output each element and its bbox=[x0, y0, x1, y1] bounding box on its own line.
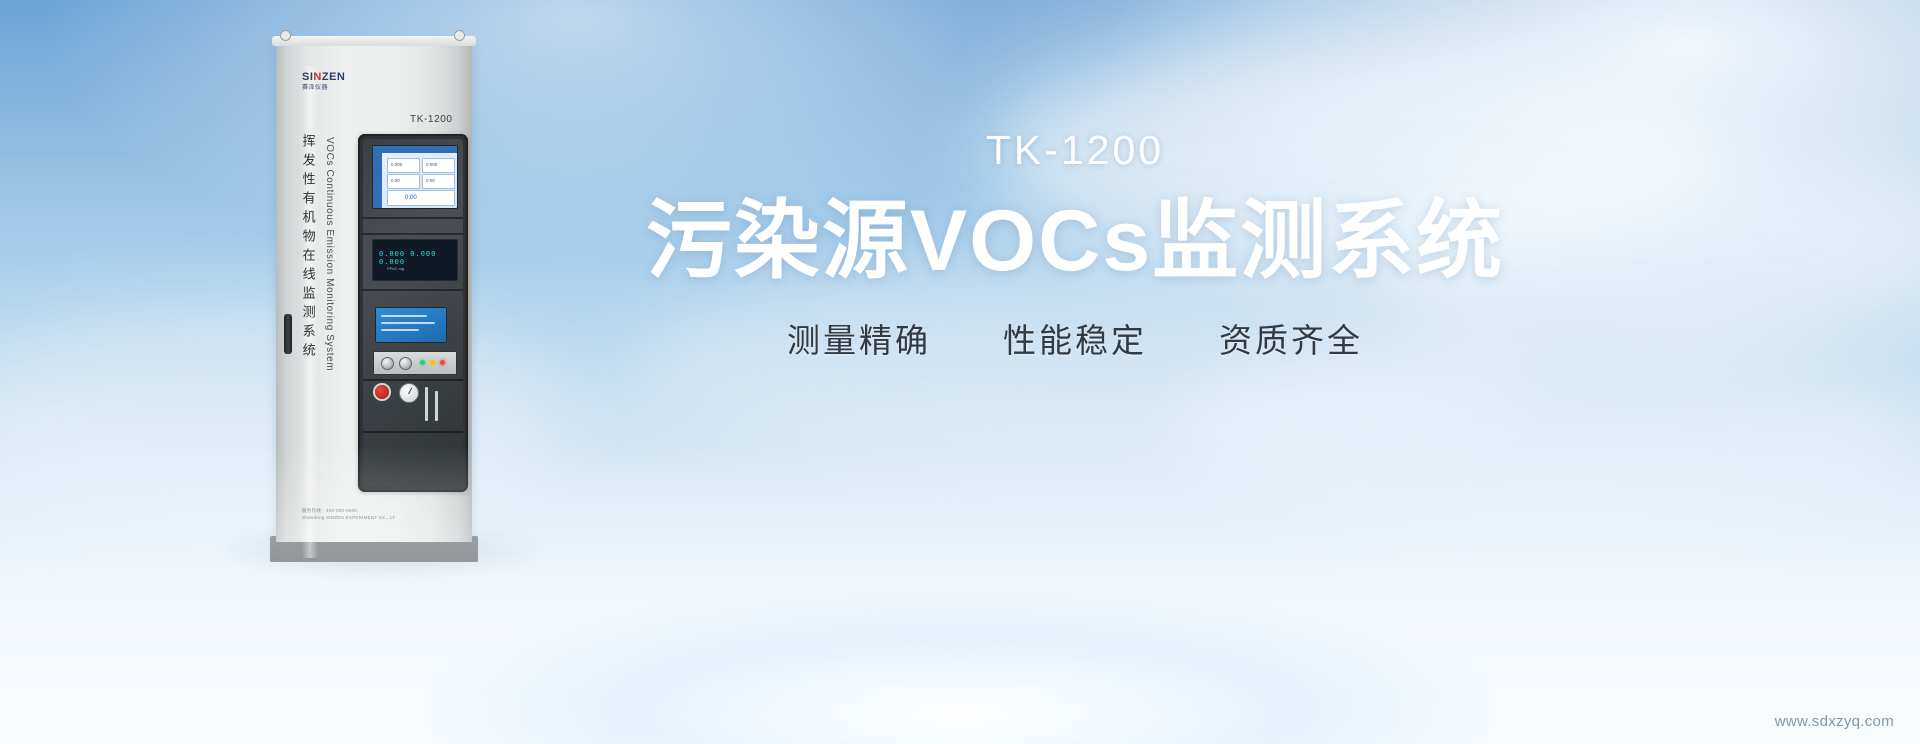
hmi-side-menu bbox=[373, 153, 382, 208]
cabinet-footnote-line2: Shandong SINZEN EXPERIMENT Inc., LT bbox=[302, 515, 452, 522]
feature-item-3: 资质齐全 bbox=[1219, 324, 1363, 357]
cabinet-footnote-line1: 服务热线：400-000-0000 bbox=[302, 508, 452, 515]
cabinet-door-handle[interactable] bbox=[284, 314, 292, 354]
headline-block: TK-1200 污染源VOCs监测系统 测量精确 性能稳定 资质齐全 bbox=[545, 130, 1605, 357]
emergency-stop-button[interactable] bbox=[375, 385, 389, 399]
brand-wordmark: SINZEN bbox=[302, 72, 358, 83]
feature-item-1: 测量精确 bbox=[787, 324, 931, 357]
status-led-red bbox=[440, 360, 445, 365]
site-watermark: www.sdxzyq.com bbox=[1775, 713, 1894, 730]
door-divider bbox=[363, 289, 463, 291]
wave-glow bbox=[430, 594, 1490, 744]
cabinet-door: 0.000 0.000 0.00 0.00 0.00 0.000 0.000 0… bbox=[358, 134, 468, 492]
rotary-knob bbox=[399, 357, 412, 370]
hmi-readout-main: 0.00 bbox=[405, 195, 417, 201]
gas-tube bbox=[425, 387, 428, 421]
analyzer-display-panel: 0.000 0.000 0.000 PPbC mg bbox=[372, 239, 458, 281]
feature-list: 测量精确 性能稳定 资质齐全 bbox=[545, 324, 1605, 357]
cabinet-door-glass: 0.000 0.000 0.00 0.00 0.00 0.000 0.000 0… bbox=[363, 139, 463, 487]
hmi-readout: 0.00 bbox=[391, 178, 400, 183]
page-title: 污染源VOCs监测系统 bbox=[545, 195, 1605, 288]
status-led-amber bbox=[430, 360, 435, 365]
analyzer-unit: PPbC mg bbox=[387, 266, 404, 271]
cabinet-top-cap bbox=[272, 36, 476, 46]
pressure-gauge bbox=[399, 383, 419, 403]
wave-dots-layer-2 bbox=[0, 684, 1920, 744]
cabinet-vertical-text-en: VOCs Continuous Emission Monitoring Syst… bbox=[324, 137, 335, 371]
model-label: TK-1200 bbox=[545, 130, 1605, 171]
brand-wordmark-sub: 赛泽仪器 bbox=[302, 85, 358, 91]
control-strip bbox=[373, 351, 457, 375]
hmi-touchscreen: 0.000 0.000 0.00 0.00 0.00 bbox=[372, 145, 458, 209]
gas-tube bbox=[435, 391, 438, 421]
product-banner: SINZEN 赛泽仪器 TK-1200 挥发性有机物在线监测系统 VOCs Co… bbox=[0, 0, 1920, 744]
lifting-eyebolt-icon bbox=[280, 30, 291, 41]
cabinet-model-plate: TK-1200 bbox=[410, 114, 453, 125]
cabinet-brand-logo: SINZEN 赛泽仪器 bbox=[302, 72, 358, 91]
door-divider bbox=[363, 431, 463, 433]
cloud-haze-5 bbox=[1180, 330, 1920, 530]
door-divider bbox=[363, 233, 463, 235]
controller-lcd bbox=[375, 307, 447, 343]
door-divider bbox=[363, 379, 463, 381]
door-divider bbox=[363, 217, 463, 219]
wave-dots-layer-1 bbox=[0, 674, 1920, 744]
status-led-green bbox=[420, 360, 425, 365]
feature-item-2: 性能稳定 bbox=[1003, 324, 1147, 357]
hmi-cell-wide bbox=[387, 190, 455, 206]
rotary-knob bbox=[381, 357, 394, 370]
cabinet-body: SINZEN 赛泽仪器 TK-1200 挥发性有机物在线监测系统 VOCs Co… bbox=[276, 42, 472, 542]
cabinet-footnote: 服务热线：400-000-0000 Shandong SINZEN EXPERI… bbox=[302, 508, 452, 522]
hmi-readout: 0.00 bbox=[426, 178, 435, 183]
product-cabinet: SINZEN 赛泽仪器 TK-1200 挥发性有机物在线监测系统 VOCs Co… bbox=[262, 22, 494, 562]
lifting-eyebolt-icon bbox=[454, 30, 465, 41]
analyzer-digits: 0.000 0.000 0.000 bbox=[379, 250, 457, 266]
cabinet-vertical-text-cn: 挥发性有机物在线监测系统 bbox=[300, 134, 314, 362]
hmi-title-bar bbox=[373, 146, 457, 153]
hmi-readout: 0.000 bbox=[391, 162, 402, 167]
hmi-readout: 0.000 bbox=[426, 162, 437, 167]
